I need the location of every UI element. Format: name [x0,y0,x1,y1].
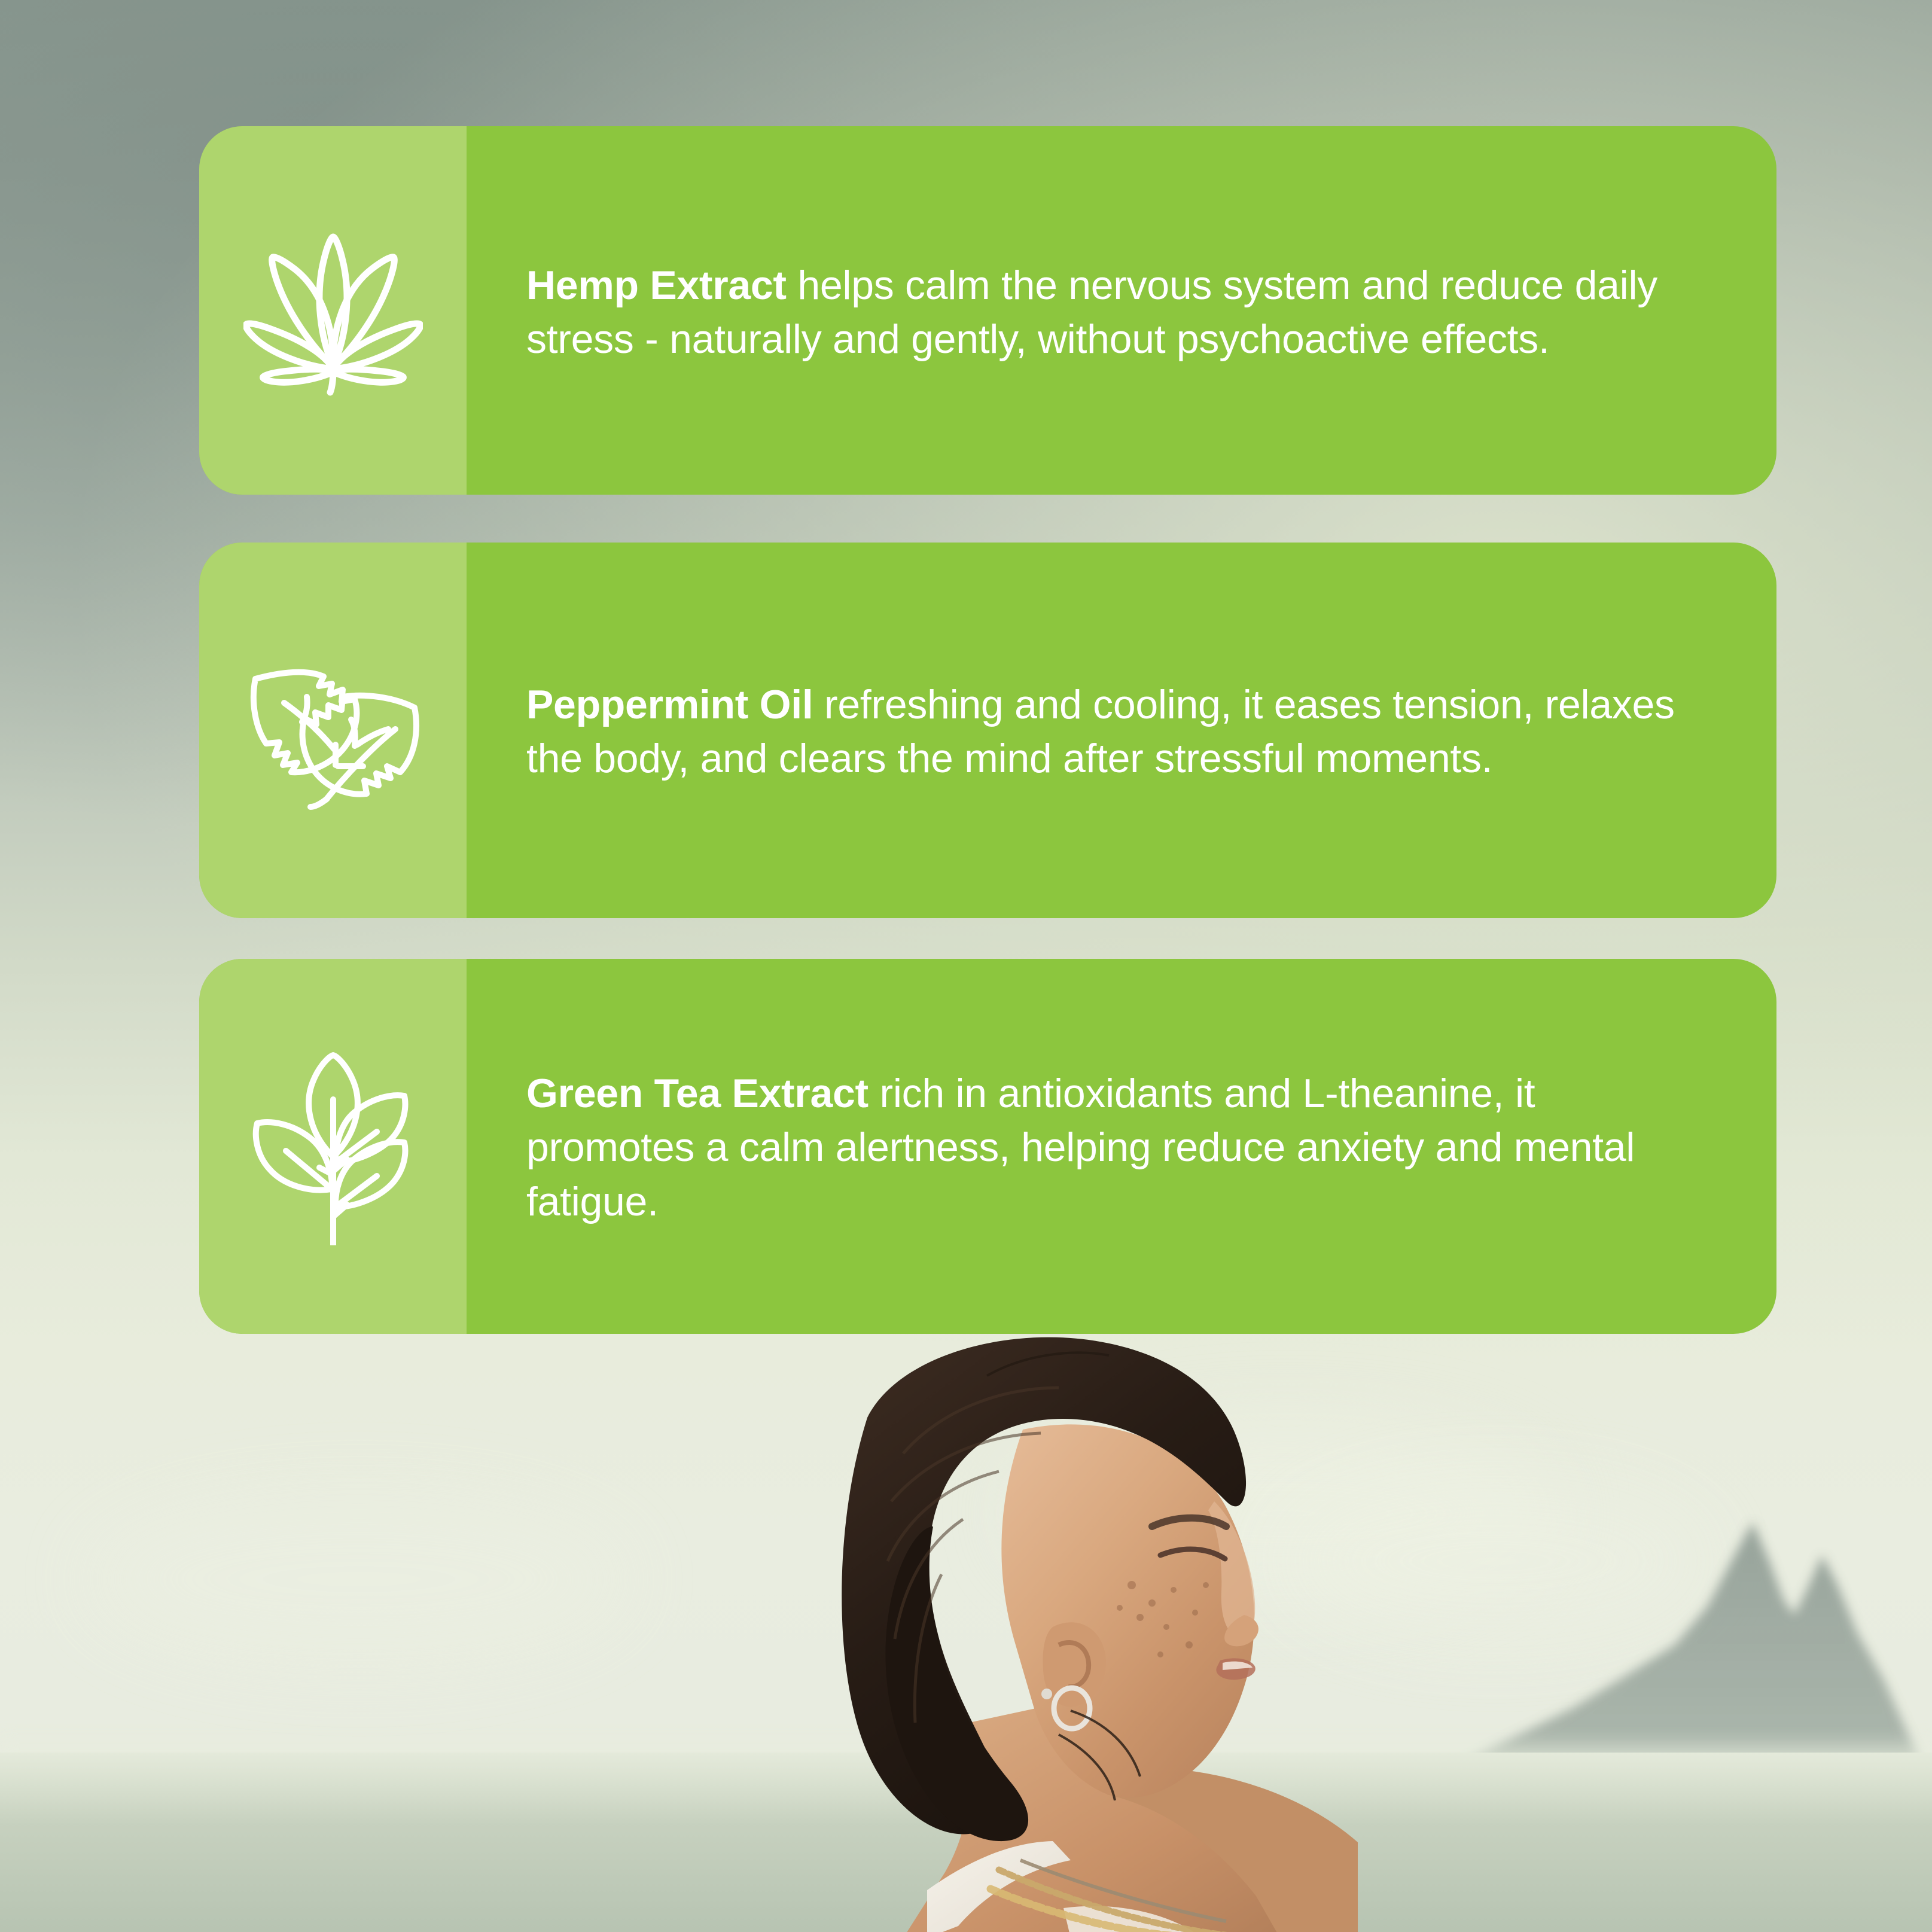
card-text: Hemp Extract helps calm the nervous syst… [526,258,1687,367]
icon-panel [199,959,467,1334]
card-text: Peppermint Oil refreshing and cooling, i… [526,678,1687,786]
card-body: Hemp Extract helps calm the nervous syst… [467,126,1776,495]
card-text: Green Tea Extract rich in antioxidants a… [526,1066,1687,1229]
ingredient-card-peppermint[interactable]: Peppermint Oil refreshing and cooling, i… [199,543,1776,918]
woman-portrait [688,1304,1358,1932]
icon-panel [199,126,467,495]
cloud-shape [90,1495,628,1663]
tea-sprig-icon [248,1048,419,1245]
ingredient-card-hemp[interactable]: Hemp Extract helps calm the nervous syst… [199,126,1776,495]
hemp-leaf-icon [243,224,423,397]
card-title: Green Tea Extract [526,1071,869,1116]
ingredient-card-green-tea[interactable]: Green Tea Extract rich in antioxidants a… [199,959,1776,1334]
card-title: Hemp Extract [526,263,787,308]
card-body: Peppermint Oil refreshing and cooling, i… [467,543,1776,918]
mint-leaves-icon [240,650,426,810]
card-title: Peppermint Oil [526,682,813,727]
card-body: Green Tea Extract rich in antioxidants a… [467,959,1776,1334]
icon-panel [199,543,467,918]
